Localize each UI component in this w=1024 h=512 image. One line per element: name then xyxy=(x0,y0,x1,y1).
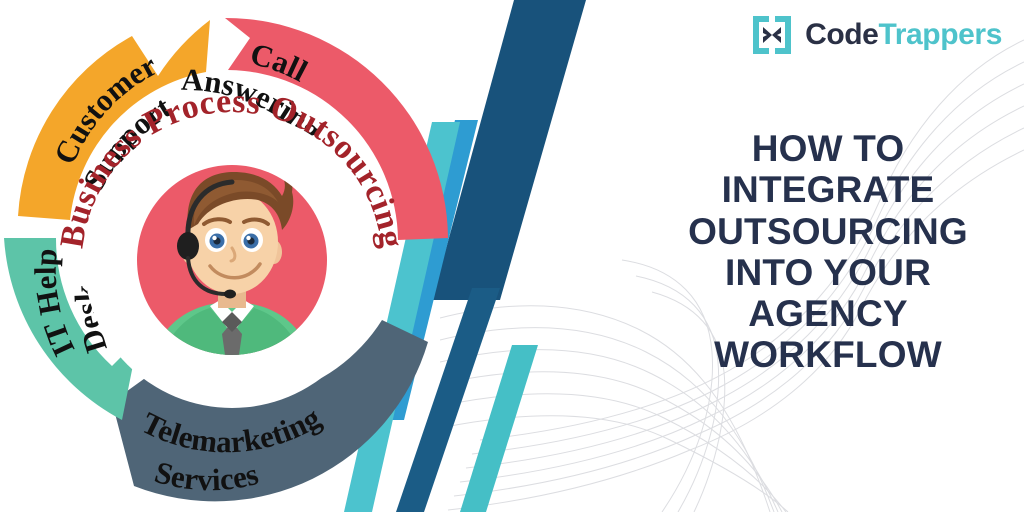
code-brackets-icon xyxy=(751,14,793,56)
poster-canvas: Customer Support Call Answering Telemark… xyxy=(0,0,1024,512)
title-line-5: AGENCY xyxy=(640,293,1016,334)
page-title: HOW TO INTEGRATE OUTSOURCING INTO YOUR A… xyxy=(640,128,1016,376)
title-line-3: OUTSOURCING xyxy=(640,211,1016,252)
title-line-6: WORKFLOW xyxy=(640,334,1016,375)
brand-name-part2: Trappers xyxy=(878,18,1002,51)
title-line-4: INTO YOUR xyxy=(640,252,1016,293)
title-line-2: INTEGRATE xyxy=(640,169,1016,210)
brand-name: CodeTrappers xyxy=(805,20,1002,50)
title-line-1: HOW TO xyxy=(640,128,1016,169)
bpo-cycle-diagram: Customer Support Call Answering Telemark… xyxy=(0,0,482,512)
brand-logo[interactable]: CodeTrappers xyxy=(751,14,1002,56)
brand-name-part1: Code xyxy=(805,18,878,51)
